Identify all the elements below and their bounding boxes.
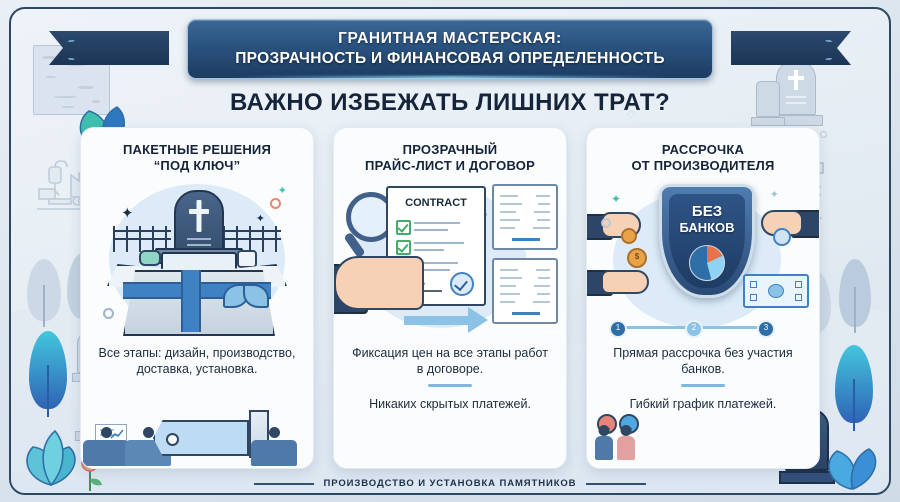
banner-tail-right <box>731 31 851 65</box>
person-left <box>83 427 129 466</box>
person-customer-1 <box>595 436 613 460</box>
price-list-doc-top <box>492 184 558 250</box>
decor-dot <box>103 308 114 319</box>
card-1-body: Все этапы: дизайн, производство, доставк… <box>81 345 313 377</box>
sparkle-icon: ✦ <box>278 184 287 197</box>
card-2-illustration: CONTRACT <box>334 178 566 343</box>
card-3-illustration: БЕЗ БАНКОВ $ <box>587 178 819 343</box>
checkbox-checked-icon <box>396 240 411 255</box>
footer: ПРОИЗВОДСТВО И УСТАНОВКА ПАМЯТНИКОВ <box>11 478 889 489</box>
pie-chart-icon <box>689 245 725 281</box>
coin-silver-icon <box>773 228 791 246</box>
banner-line-2: ПРОЗРАЧНОСТЬ И ФИНАНСОВАЯ ОПРЕДЕЛЕННОСТЬ <box>235 50 665 68</box>
banknote-icon <box>743 274 809 308</box>
title-banner: ГРАНИТНАЯ МАСТЕРСКАЯ: ПРОЗРАЧНОСТЬ И ФИН… <box>187 19 713 79</box>
banner-tail-left <box>49 31 169 65</box>
card-3-body-1: Прямая рассрочка без участия банков. <box>587 345 819 377</box>
gift-bow-icon <box>223 282 269 312</box>
card-3-body-2: Гибкий график платежей. <box>616 396 791 412</box>
chevron-right-icon <box>825 40 843 60</box>
timeline-node-1: 1 <box>609 320 627 338</box>
card-2-body-1: Фиксация цен на все этапы работ в догово… <box>334 345 566 377</box>
footer-rule-right <box>586 483 646 485</box>
infographic-canvas: ✦ ◇ ✦ ✦ ГРАНИТНАЯ МАСТЕРСКАЯ: ПРОЗРАЧНОС… <box>0 0 900 502</box>
coin-icon: $ <box>627 248 647 268</box>
decor-dot <box>601 218 611 228</box>
card-1-title-line2: “ПОД КЛЮЧ” <box>154 158 241 173</box>
gift-ribbon-vertical <box>181 270 201 332</box>
approval-stamp-icon <box>450 272 474 296</box>
poster-frame: ✦ ◇ ✦ ✦ ГРАНИТНАЯ МАСТЕРСКАЯ: ПРОЗРАЧНОС… <box>9 7 891 495</box>
card-3-title: РАССРОЧКА ОТ ПРОИЗВОДИТЕЛЯ <box>632 142 775 174</box>
card-transparent-pricelist[interactable]: ПРОЗРАЧНЫЙ ПРАЙС-ЛИСТ И ДОГОВОР <box>333 127 567 469</box>
hand-receiving-icon <box>601 270 649 294</box>
card-1-title-line1: ПАКЕТНЫЕ РЕШЕНИЯ <box>123 142 271 157</box>
sparkle-icon: ✦ <box>121 204 134 222</box>
card-1-title: ПАКЕТНЫЕ РЕШЕНИЯ “ПОД КЛЮЧ” <box>123 142 271 174</box>
card-1-people-scene <box>81 410 313 468</box>
card-2-body-2: Никаких скрытых платежей. <box>355 396 545 412</box>
flower-bunch-icon <box>139 250 161 266</box>
sparkle-icon: ✦ <box>611 192 621 206</box>
card-1-illustration: ✦ ✦ ✦ <box>81 178 313 343</box>
footer-rule-left <box>254 483 314 485</box>
card-3-title-line2: ОТ ПРОИЗВОДИТЕЛЯ <box>632 158 775 173</box>
card-3-title-line1: РАССРОЧКА <box>662 142 744 157</box>
monument-gravestone-icon <box>174 190 224 254</box>
footer-text: ПРОИЗВОДСТВО И УСТАНОВКА ПАМЯТНИКОВ <box>324 478 577 489</box>
shield-line-1: БЕЗ <box>662 203 752 220</box>
shield-line-2: БАНКОВ <box>662 220 752 235</box>
title-banner-wrap: ГРАНИТНАЯ МАСТЕРСКАЯ: ПРОЗРАЧНОСТЬ И ФИН… <box>11 15 889 79</box>
sparkle-icon: ✦ <box>256 212 265 225</box>
page-headline: ВАЖНО ИЗБЕЖАТЬ ЛИШНИХ ТРАТ? <box>11 89 889 117</box>
coin-icon <box>621 228 637 244</box>
decor-dot <box>270 198 281 209</box>
price-tag-icon <box>153 420 249 456</box>
payment-timeline: 1 2 3 <box>609 320 775 334</box>
divider-rule <box>428 384 472 387</box>
card-installment-plan[interactable]: РАССРОЧКА ОТ ПРОИЗВОДИТЕЛЯ БЕЗ БАНКОВ <box>586 127 820 469</box>
chevron-left-icon <box>57 40 75 60</box>
card-packaged-solutions[interactable]: ПАКЕТНЫЕ РЕШЕНИЯ “ПОД КЛЮЧ” <box>80 127 314 469</box>
card-2-title-line1: ПРОЗРАЧНЫЙ <box>403 142 498 157</box>
divider-rule <box>681 384 725 387</box>
price-list-doc-bottom <box>492 258 558 324</box>
banner-line-1: ГРАНИТНАЯ МАСТЕРСКАЯ: <box>338 30 562 48</box>
card-2-title: ПРОЗРАЧНЫЙ ПРАЙС-ЛИСТ И ДОГОВОР <box>365 142 535 174</box>
timeline-node-2: 2 <box>685 320 703 338</box>
person-customer-2 <box>617 436 635 460</box>
checkbox-checked-icon <box>396 220 411 235</box>
person-installer <box>251 427 297 466</box>
vase-icon <box>237 250 257 268</box>
timeline-node-3: 3 <box>757 320 775 338</box>
card-2-title-line2: ПРАЙС-ЛИСТ И ДОГОВОР <box>365 158 535 173</box>
cards-row: ПАКЕТНЫЕ РЕШЕНИЯ “ПОД КЛЮЧ” <box>11 127 889 469</box>
hand-holding-contract-icon <box>334 256 424 310</box>
contract-title: CONTRACT <box>388 197 484 209</box>
sparkle-icon: ✦ <box>770 188 779 201</box>
customers-group-icon <box>595 414 665 460</box>
